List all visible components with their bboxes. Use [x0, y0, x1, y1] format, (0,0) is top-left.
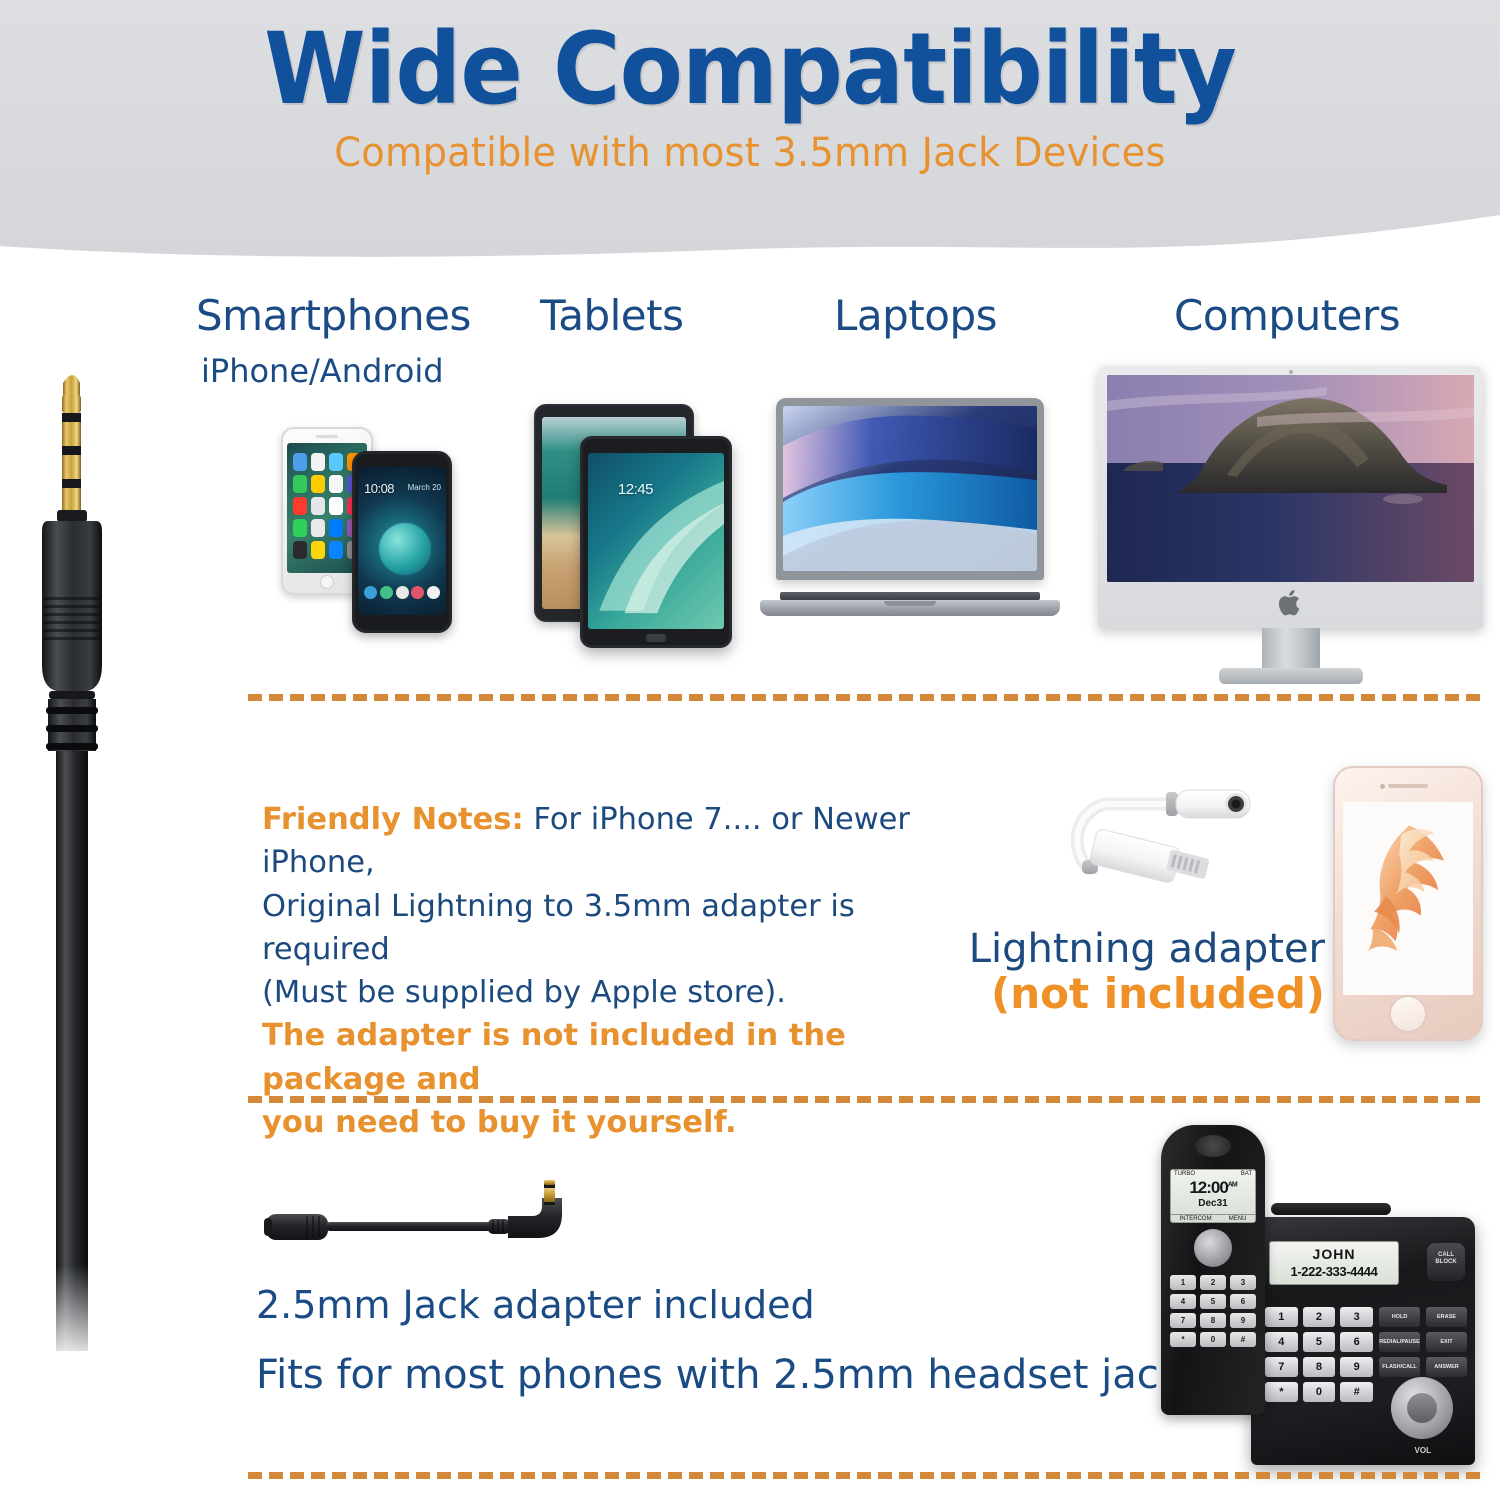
imac-device	[1098, 366, 1483, 696]
notes-lead: Friendly Notes:	[262, 802, 524, 837]
base-fn-key[interactable]: ANSWER ON/OFF	[1426, 1357, 1467, 1377]
handset-status-right: BAT	[1241, 1171, 1252, 1177]
android-clock: 10:08	[364, 481, 394, 496]
laptop-keyboard	[780, 592, 1040, 600]
call-block-button[interactable]: CALL BLOCK	[1427, 1243, 1465, 1281]
iphone-6s-device	[1333, 766, 1483, 1041]
android-wallpaper-bubble	[379, 523, 431, 575]
handset-status-row: TURBO BAT	[1174, 1171, 1252, 1177]
apple-logo-icon	[1278, 588, 1304, 618]
handset-time-value: 12:00	[1189, 1178, 1227, 1197]
category-sublabel-smartphones: iPhone/Android	[201, 352, 444, 390]
android-date: March 20	[408, 483, 441, 493]
imac-screen	[1107, 375, 1474, 582]
divider-line-2	[248, 1096, 1480, 1103]
friendly-notes-block: Friendly Notes: For iPhone 7.... or Newe…	[262, 798, 992, 1144]
android-tablet-device: 12:45	[580, 436, 732, 648]
handset-earpiece	[1195, 1135, 1231, 1157]
handset-softkeys: INTERCOM MENU	[1171, 1214, 1255, 1222]
handset-keypad[interactable]: 1 2 3 4 5 6 7 8 9 * 0 #	[1170, 1275, 1256, 1347]
laptop-screen	[783, 406, 1037, 571]
base-key[interactable]: 6	[1340, 1332, 1373, 1352]
base-key[interactable]: *	[1265, 1382, 1298, 1402]
iphone-6s-camera	[1380, 784, 1385, 789]
handset-key[interactable]: 5	[1200, 1294, 1226, 1309]
base-key[interactable]: #	[1340, 1382, 1373, 1402]
cordless-handset: TURBO BAT 12:00AM Dec31 INTERCOM MENU 1 …	[1161, 1125, 1265, 1415]
page-title: Wide Compatibility	[53, 18, 1448, 122]
handset-status-left: TURBO	[1174, 1171, 1195, 1177]
notes-line-5: you need to buy it yourself.	[262, 1101, 992, 1144]
handset-key[interactable]: #	[1230, 1332, 1256, 1347]
handset-ampm: AM	[1228, 1181, 1237, 1188]
base-fn-key[interactable]: EXIT	[1426, 1332, 1467, 1352]
header-text-group: Wide Compatibility Compatible with most …	[0, 18, 1500, 176]
audio-plug-with-cable	[18, 365, 208, 1375]
handset-time: 12:00AM	[1171, 1178, 1255, 1198]
handset-key[interactable]: *	[1170, 1332, 1196, 1347]
handset-key[interactable]: 0	[1200, 1332, 1226, 1347]
handset-softkey-left[interactable]: INTERCOM	[1180, 1216, 1212, 1222]
base-key[interactable]: 3	[1340, 1307, 1373, 1327]
iphone-home-button	[320, 575, 334, 589]
base-fn-key[interactable]: HOLD	[1379, 1307, 1420, 1327]
base-key[interactable]: 1	[1265, 1307, 1298, 1327]
handset-key[interactable]: 4	[1170, 1294, 1196, 1309]
notes-line-3: (Must be supplied by Apple store).	[262, 971, 992, 1014]
iphone-6s-home-button	[1389, 995, 1427, 1033]
handset-softkey-right[interactable]: MENU	[1229, 1216, 1247, 1222]
base-key[interactable]: 5	[1303, 1332, 1336, 1352]
base-keypad[interactable]: 1 2 3 4 5 6 7 8 9 * 0 #	[1265, 1307, 1373, 1402]
category-label-computers: Computers	[1174, 291, 1400, 340]
handset-key[interactable]: 9	[1230, 1313, 1256, 1328]
base-navigation-dial[interactable]	[1391, 1377, 1453, 1439]
lightning-adapter-label: Lightning adapter	[955, 928, 1325, 971]
laptop-device	[760, 398, 1060, 616]
iphone-6s-screen	[1343, 802, 1473, 995]
imac-stand-foot	[1219, 668, 1363, 684]
lightning-to-35mm-adapter	[1052, 782, 1272, 902]
handset-key[interactable]: 1	[1170, 1275, 1196, 1290]
iphone-speaker	[316, 435, 338, 438]
android-phone-device: 10:08 March 20	[352, 451, 452, 633]
page-subtitle: Compatible with most 3.5mm Jack Devices	[30, 130, 1470, 176]
laptop-notch	[884, 601, 936, 606]
notes-line-4: The adapter is not included in the packa…	[262, 1014, 992, 1101]
base-key[interactable]: 0	[1303, 1382, 1336, 1402]
android-dock	[364, 586, 440, 599]
handset-key[interactable]: 3	[1230, 1275, 1256, 1290]
base-key[interactable]: 2	[1303, 1307, 1336, 1327]
base-fn-key[interactable]: REDIAL/PAUSE	[1379, 1332, 1420, 1352]
handset-key[interactable]: 7	[1170, 1313, 1196, 1328]
imac-screen-housing	[1098, 366, 1483, 628]
handset-key[interactable]: 6	[1230, 1294, 1256, 1309]
feather-wallpaper	[1343, 802, 1473, 995]
divider-line-3	[248, 1472, 1480, 1479]
cordless-base-unit: JOHN 1-222-333-4444 CALL BLOCK 1 2 3 4 5…	[1251, 1217, 1475, 1465]
handset-key[interactable]: 2	[1200, 1275, 1226, 1290]
handset-date: Dec31	[1171, 1198, 1255, 1209]
ios-app-grid	[293, 453, 361, 559]
tablet-clock: 12:45	[618, 481, 653, 498]
base-function-keys[interactable]: HOLD ERASE REDIAL/PAUSE EXIT FLASH/CALL …	[1379, 1307, 1467, 1377]
handset-navigation-dial[interactable]	[1194, 1229, 1232, 1267]
category-label-smartphones: Smartphones	[196, 291, 471, 340]
caller-number: 1-222-333-4444	[1270, 1264, 1398, 1279]
android-screen: 10:08 March 20	[358, 467, 446, 615]
base-vol-label: VOL	[1415, 1446, 1431, 1455]
caller-name: JOHN	[1270, 1246, 1398, 1262]
base-key[interactable]: 4	[1265, 1332, 1298, 1352]
base-key[interactable]: 9	[1340, 1357, 1373, 1377]
lightning-adapter-caption: Lightning adapter (not included)	[955, 928, 1325, 1017]
iphone-6s-speaker	[1388, 784, 1428, 788]
handset-key[interactable]: 8	[1200, 1313, 1226, 1328]
notes-line-1: Friendly Notes: For iPhone 7.... or Newe…	[262, 798, 992, 885]
category-label-tablets: Tablets	[540, 291, 683, 340]
infographic-canvas: Wide Compatibility Compatible with most …	[0, 0, 1500, 1500]
base-antenna	[1271, 1203, 1391, 1215]
handset-lcd-display: TURBO BAT 12:00AM Dec31 INTERCOM MENU	[1170, 1169, 1256, 1223]
category-label-laptops: Laptops	[834, 291, 997, 340]
imac-stand-neck	[1262, 628, 1320, 672]
not-included-label: (not included)	[955, 971, 1325, 1016]
header-band: Wide Compatibility Compatible with most …	[0, 0, 1500, 270]
laptop-lid	[776, 398, 1044, 580]
bottom-line-1: 2.5mm Jack adapter included	[256, 1283, 815, 1327]
25mm-jack-adapter	[262, 1180, 602, 1270]
bottom-line-2: Fits for most phones with 2.5mm headset …	[256, 1352, 1182, 1398]
divider-line-1	[248, 694, 1480, 701]
notes-line-2: Original Lightning to 3.5mm adapter is r…	[262, 885, 992, 972]
android-tablet-screen: 12:45	[588, 453, 724, 629]
base-key[interactable]: 7	[1265, 1357, 1298, 1377]
base-lcd-display: JOHN 1-222-333-4444	[1269, 1241, 1399, 1285]
cordless-phone-device: JOHN 1-222-333-4444 CALL BLOCK 1 2 3 4 5…	[1155, 1125, 1475, 1495]
base-fn-key[interactable]: FLASH/CALL WAIT	[1379, 1357, 1420, 1377]
tablet-wallpaper-wave	[588, 467, 724, 615]
base-fn-key[interactable]: ERASE	[1426, 1307, 1467, 1327]
imac-camera	[1289, 370, 1293, 374]
tablet-home-button	[646, 634, 666, 642]
base-key[interactable]: 8	[1303, 1357, 1336, 1377]
